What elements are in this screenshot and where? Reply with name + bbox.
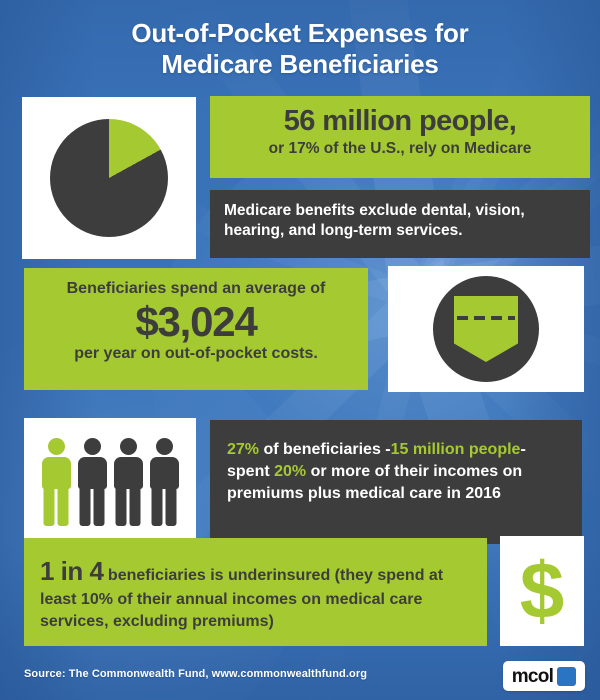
page-title-line-1: Out-of-Pocket Expenses for — [0, 18, 600, 49]
stat-underinsured: 1 in 4 beneficiaries is underinsured (th… — [24, 538, 487, 646]
people-icon-group — [41, 438, 180, 526]
stat-underinsured-lead: 1 in 4 — [40, 556, 103, 586]
infographic-canvas: Out-of-Pocket Expenses for Medicare Bene… — [0, 0, 600, 700]
stat-average-spend-bottom: per year on out-of-pocket costs. — [24, 345, 368, 363]
source-attribution: Source: The Commonwealth Fund, www.commo… — [24, 668, 367, 680]
dollar-icon-card: $ — [500, 536, 584, 646]
pocket-shape — [454, 296, 518, 362]
asterisk-icon — [557, 667, 576, 686]
dollar-sign-icon: $ — [520, 551, 565, 631]
stat-premium-burden-count-people: 15 million people — [391, 441, 521, 458]
pocket-icon — [433, 276, 539, 382]
stat-premium-burden-text-a: of beneficiaries - — [259, 441, 391, 458]
pocket-icon-card — [388, 266, 584, 392]
stat-average-spend-top: Beneficiaries spend an average of — [24, 280, 368, 298]
mcol-logo[interactable]: mcol — [503, 661, 585, 691]
person-icon — [149, 438, 180, 526]
page-title: Out-of-Pocket Expenses for Medicare Bene… — [0, 18, 600, 79]
stat-medicare-population: 56 million people, or 17% of the U.S., r… — [210, 96, 590, 178]
page-title-line-2: Medicare Beneficiaries — [0, 49, 600, 80]
medicare-share-pie-chart — [50, 119, 168, 237]
stat-premium-burden: 27% of beneficiaries -15 million people-… — [210, 420, 582, 544]
pocket-stitch-dashes — [457, 316, 515, 320]
stat-benefit-exclusions-line-1: Medicare benefits exclude dental, vision… — [224, 201, 576, 221]
stat-medicare-population-primary: 56 million people, — [224, 105, 576, 137]
stat-average-spend-amount: $3,024 — [24, 300, 368, 344]
person-icon — [77, 438, 108, 526]
people-icon-card — [24, 418, 196, 546]
stat-premium-burden-pct-beneficiaries: 27% — [227, 441, 259, 458]
mcol-wordmark: mcol — [512, 667, 554, 686]
pie-chart-card — [22, 97, 196, 259]
stat-medicare-population-secondary: or 17% of the U.S., rely on Medicare — [224, 140, 576, 159]
stat-benefit-exclusions: Medicare benefits exclude dental, vision… — [210, 190, 590, 258]
stat-average-spend: Beneficiaries spend an average of $3,024… — [24, 268, 368, 390]
stat-premium-burden-pct-income: 20% — [274, 463, 306, 480]
stat-benefit-exclusions-line-2: hearing, and long-term services. — [224, 221, 576, 241]
person-icon-highlighted — [41, 438, 72, 526]
person-icon — [113, 438, 144, 526]
